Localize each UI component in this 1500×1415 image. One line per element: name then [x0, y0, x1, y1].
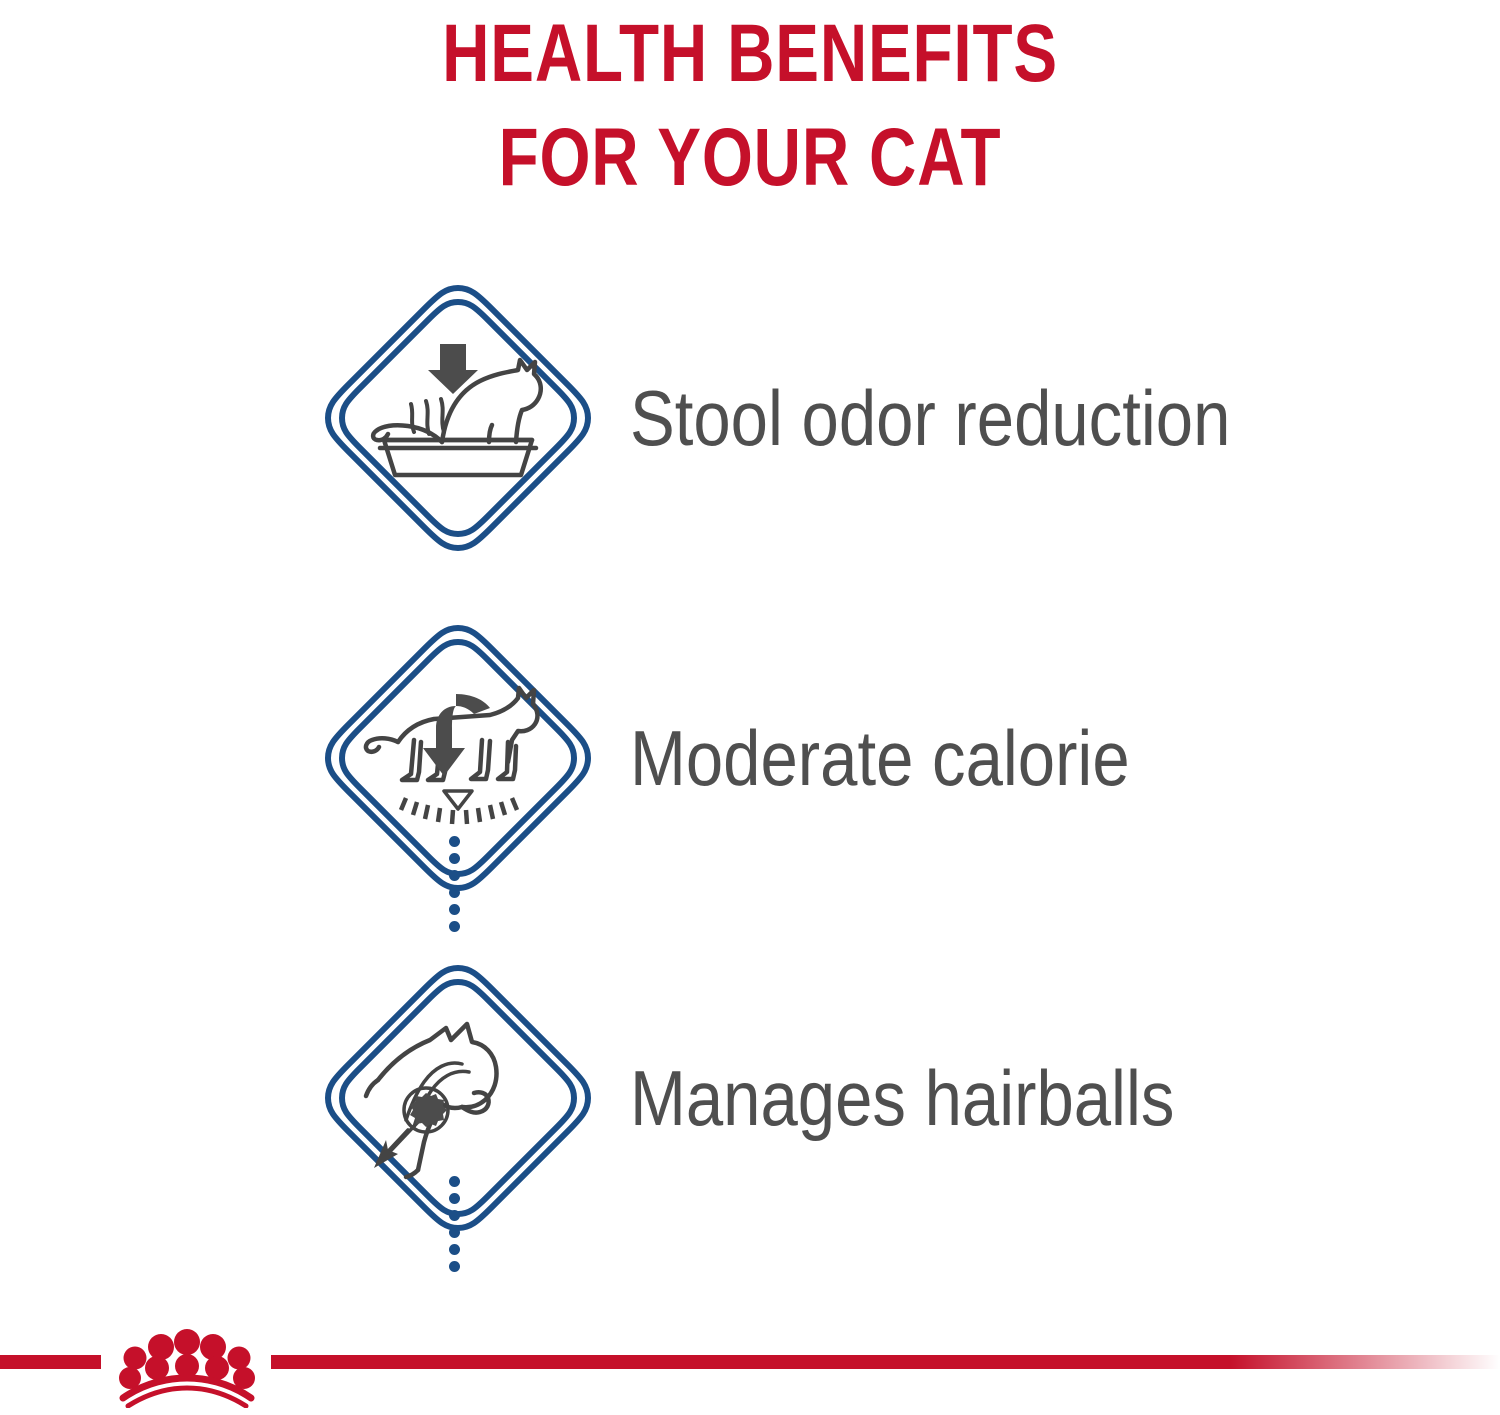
connector-dot: [449, 921, 460, 932]
benefit-label-manages-hairballs: Manages hairballs: [630, 1055, 1263, 1141]
royal-canin-crown-logo: [104, 1328, 270, 1408]
footer-rule-right: [271, 1355, 1500, 1369]
footer: [0, 1320, 1500, 1415]
cat-hairball-digestion-icon: [322, 962, 594, 1234]
benefit-item-stool-odor-reduction: Stool odor reduction: [0, 282, 1500, 554]
footer-rule-left: [0, 1355, 101, 1369]
health-benefits-infographic: HEALTH BENEFITS FOR YOUR CAT: [0, 0, 1500, 1415]
page-title: HEALTH BENEFITS FOR YOUR CAT: [0, 2, 1500, 210]
connector-dot: [449, 1261, 460, 1272]
benefit-label-moderate-calorie: Moderate calorie: [630, 715, 1211, 801]
benefit-label-text: Manages hairballs: [630, 1055, 1174, 1141]
cat-on-weighing-scale-icon: [322, 622, 594, 894]
benefit-item-manages-hairballs: Manages hairballs: [0, 962, 1500, 1234]
benefit-label-stool-odor-reduction: Stool odor reduction: [630, 375, 1328, 461]
cat-litter-box-odor-icon: [322, 282, 594, 554]
benefit-item-moderate-calorie: Moderate calorie: [0, 622, 1500, 894]
connector-dot: [449, 1244, 460, 1255]
page-title-line-2: FOR YOUR CAT: [150, 106, 1350, 210]
connector-dot: [449, 904, 460, 915]
benefit-label-text: Stool odor reduction: [630, 375, 1230, 461]
page-title-line-1: HEALTH BENEFITS: [150, 2, 1350, 106]
benefit-label-text: Moderate calorie: [630, 715, 1130, 801]
benefits-list: Stool odor reduction: [0, 282, 1500, 1234]
